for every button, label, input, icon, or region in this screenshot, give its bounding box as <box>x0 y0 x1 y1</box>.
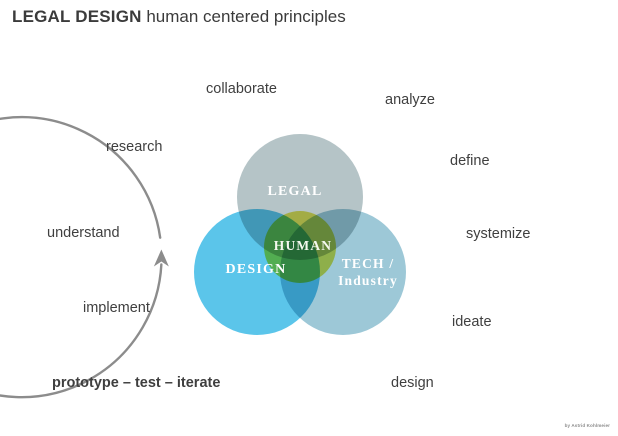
credit-attribution: by Astrid Kohlmeier <box>565 422 610 429</box>
venn-circle-human[interactable] <box>264 211 336 283</box>
cycle-label-systemize: systemize <box>466 226 530 243</box>
cycle-label-understand: understand <box>47 225 120 242</box>
cycle-ring-arc <box>0 117 161 397</box>
cycle-label-design: design <box>391 375 434 392</box>
cycle-label-analyze: analyze <box>385 92 435 109</box>
cycle-label-ideate: ideate <box>452 314 492 331</box>
diagram-stage: LEGAL HUMAN DESIGN TECH / Industry colla… <box>0 0 618 436</box>
cycle-label-prototype-test-iterate: prototype – test – iterate <box>52 375 220 392</box>
venn-sets-group <box>194 134 406 335</box>
venn-cycle-diagram <box>0 0 618 436</box>
cycle-label-research: research <box>106 139 162 156</box>
cycle-label-define: define <box>450 153 490 170</box>
cycle-ring-group <box>0 117 169 397</box>
cycle-label-collaborate: collaborate <box>206 81 277 98</box>
cycle-label-implement: implement <box>83 300 150 317</box>
